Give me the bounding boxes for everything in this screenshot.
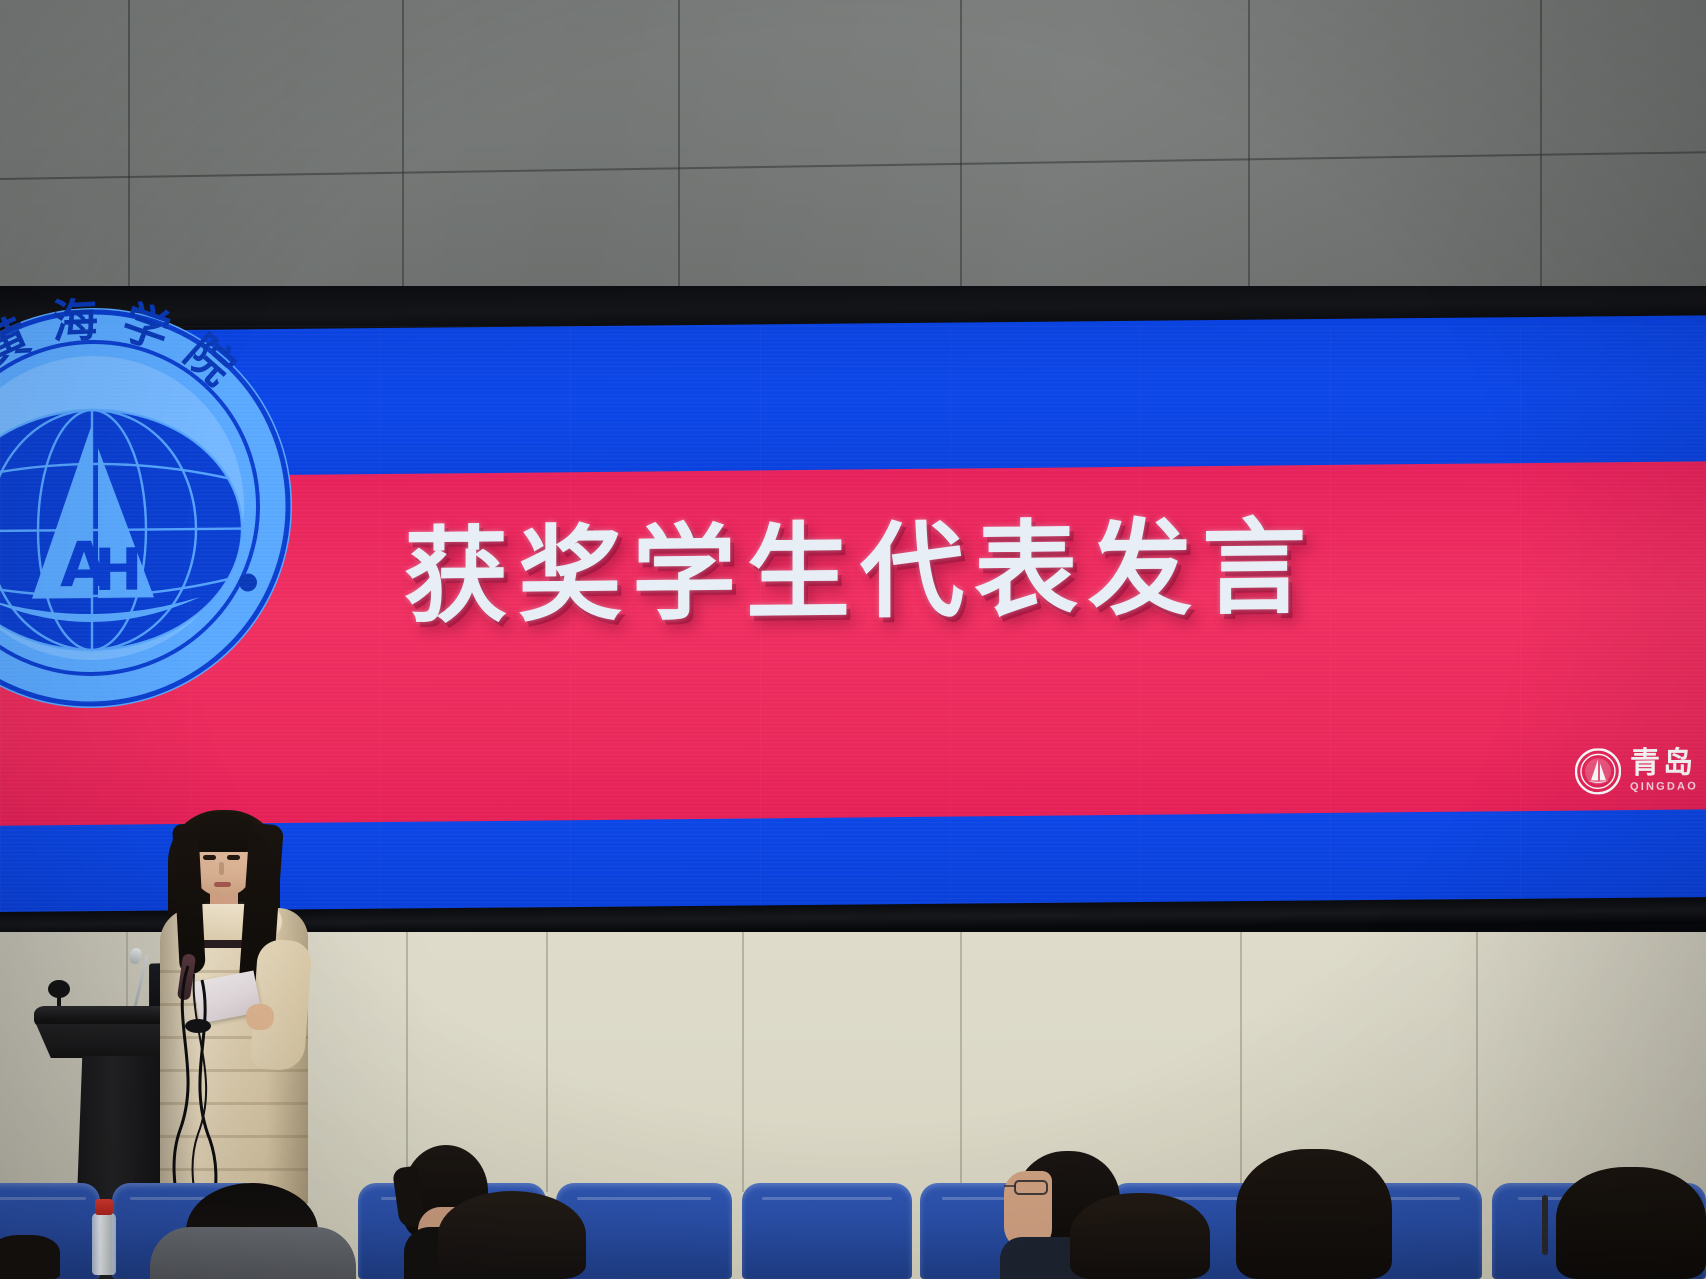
table-microphone	[48, 980, 70, 1006]
speaker-nose	[219, 862, 224, 875]
university-crest-icon: A H 青岛黄海学院	[0, 296, 302, 720]
attendee-hoodie	[150, 1227, 356, 1279]
wall-seam	[1540, 0, 1542, 300]
speaker-eye-left	[203, 855, 216, 860]
wall-seam	[678, 0, 680, 300]
thermos-flask	[1542, 1195, 1548, 1255]
wall-seam	[402, 0, 404, 300]
corner-logo-wordmark: 青岛 QINGDAO	[1630, 748, 1698, 793]
auditorium-photo: A H 青岛黄海学院 获奖学生代表发言	[0, 0, 1706, 1279]
auditorium-seat	[742, 1183, 912, 1279]
svg-text:H: H	[94, 536, 143, 604]
eyeglasses-icon	[1014, 1180, 1048, 1195]
wall-seam	[960, 0, 962, 300]
corner-logo-cn: 青岛	[1630, 748, 1698, 779]
wall-seam	[128, 0, 130, 300]
attendee-head	[1070, 1193, 1210, 1279]
attendee-head	[1556, 1167, 1706, 1279]
attendee-head	[0, 1235, 60, 1279]
wall-seam	[1248, 0, 1250, 300]
speaker-mouth	[214, 882, 231, 887]
attendee-head	[1236, 1149, 1392, 1279]
attendee-head	[438, 1191, 586, 1279]
qingdao-corner-logo: 青岛 QINGDAO	[1575, 747, 1698, 794]
wall-sheen	[0, 0, 1706, 300]
bottle-cap	[95, 1199, 113, 1215]
water-bottle	[92, 1213, 116, 1275]
corner-logo-en: QINGDAO	[1630, 781, 1698, 793]
upper-wall-panels	[0, 0, 1706, 300]
qingdao-seal-icon	[1575, 748, 1621, 794]
speaker-eye-right	[227, 855, 240, 860]
